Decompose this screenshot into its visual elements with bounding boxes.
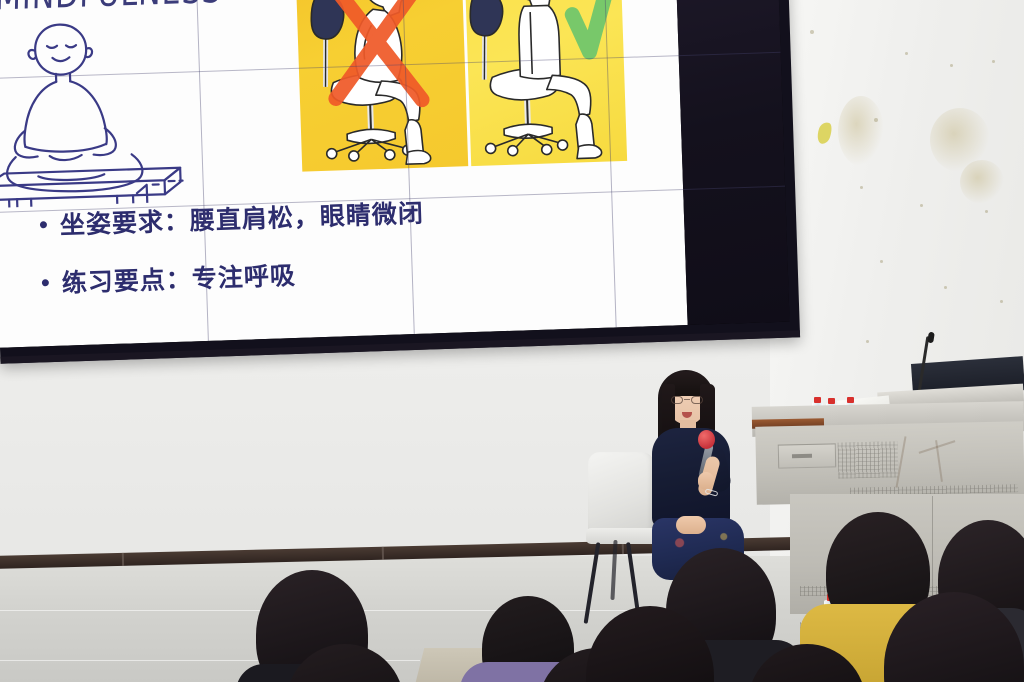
meditation-doodle-icon: [0, 1, 192, 213]
presentation-slide: MINDFULNESS: [0, 0, 688, 348]
lecture-photo-scene: MINDFULNESS: [0, 0, 1024, 682]
wall-speck: [944, 286, 947, 289]
wall-speck: [1000, 300, 1003, 303]
lectern-vent: [838, 441, 899, 478]
lectern-base-seam: [932, 496, 933, 606]
bullet-text: 练习要点：专注呼吸: [61, 256, 296, 300]
list-item: 练习要点：专注呼吸: [41, 252, 426, 301]
wall-speck: [874, 118, 878, 122]
posture-bad-illustration: [295, 0, 468, 172]
presenter-resting-hands: [676, 516, 706, 534]
wall-speck: [866, 340, 869, 343]
posture-good-illustration: [465, 0, 628, 166]
wall-speck: [950, 64, 953, 67]
wall-speck: [880, 260, 883, 263]
slide-bullet-list: 坐姿要求：腰直肩松，眼睛微闭 练习要点：专注呼吸: [39, 194, 427, 323]
wall-speck: [810, 30, 814, 34]
wall-speck: [920, 204, 923, 207]
wall-stain: [838, 96, 884, 166]
presenter-hand-holding-mic: [698, 472, 714, 490]
video-wall-screen[interactable]: MINDFULNESS: [0, 0, 800, 364]
posture-illustrations: [295, 0, 627, 172]
wall-speck: [860, 186, 863, 189]
bullet-dot-icon: [42, 279, 49, 286]
bullet-dot-icon: [40, 221, 47, 228]
green-check-mark: [571, 0, 614, 53]
lectern-drawer-handle[interactable]: [792, 454, 812, 458]
glasses-icon: [671, 396, 703, 404]
wall-speck: [985, 210, 988, 213]
screen-display-area: MINDFULNESS: [0, 0, 790, 348]
wall-stain: [960, 160, 1004, 204]
wall-speck: [905, 52, 908, 55]
handheld-microphone-icon: [698, 430, 715, 449]
wall-speck: [992, 60, 995, 63]
screen-dark-panel: [676, 0, 790, 325]
